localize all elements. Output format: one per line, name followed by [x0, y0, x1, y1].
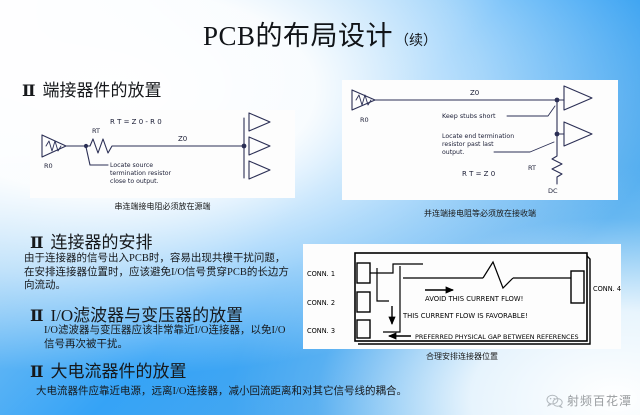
bullet-marker-icon: Ⅱ	[30, 235, 43, 252]
watermark-text: 射频百花潭	[567, 392, 632, 409]
note-line-3: close to output.	[110, 178, 158, 185]
label-conn-3: CONN. 3	[307, 327, 335, 335]
section-heading-terminator-placement: Ⅱ端接器件的放置	[22, 76, 161, 101]
label-z0: Z0	[470, 89, 479, 97]
wechat-icon	[546, 394, 563, 408]
section-heading-io-filter-transformer: ⅡI/O滤波器与变压器的放置	[30, 301, 243, 326]
figure-connector-layout: CONN. 1 CONN. 2 CONN. 3 CONN. 4 AVOID TH…	[303, 244, 621, 349]
page-title-main: PCB的布局设计	[203, 21, 393, 51]
section-heading-label: 连接器的安排	[50, 233, 152, 252]
section-heading-label: 端接器件的放置	[42, 81, 161, 100]
section-body-io-filter-transformer: I/O滤波器与变压器应该非常靠近I/O连接器，以免I/O信号再次被干扰。	[44, 324, 292, 351]
figure-caption-connector-layout: 合理安排连接器位置	[303, 351, 621, 362]
label-dc: DC	[548, 187, 558, 195]
note-keep-stubs-short: Keep stubs short	[442, 112, 496, 120]
figure-end-termination: R0 Z0 Keep stubs short Locate end termin…	[342, 80, 618, 200]
page-title: PCB的布局设计（续）	[0, 14, 640, 53]
label-conn-2: CONN. 2	[307, 299, 335, 307]
note-line-2: termination resistor	[110, 170, 172, 177]
bullet-marker-icon: Ⅱ	[30, 364, 43, 381]
section-heading-connector-arrangement: Ⅱ连接器的安排	[30, 228, 152, 253]
figure-caption-end-termination: 并连端接电阻等必须放在接收端	[342, 208, 618, 219]
connector-layout-schematic: CONN. 1 CONN. 2 CONN. 3 CONN. 4 AVOID TH…	[303, 244, 621, 349]
label-r0: R0	[360, 116, 369, 124]
section-body-high-current-devices: 大电流器件应靠近电源，远离I/O连接器，减小回流距离和对其它信号线的耦合。	[36, 385, 466, 399]
formula-rt: R T = Z 0 - R 0	[110, 118, 162, 126]
section-heading-high-current-devices: Ⅱ大电流器件的放置	[30, 357, 186, 382]
watermark: 射频百花潭	[546, 392, 632, 409]
section-heading-label: 大电流器件的放置	[50, 362, 186, 381]
node-dot	[555, 132, 560, 137]
label-avoid-current-flow: AVOID THIS CURRENT FLOW!	[425, 295, 523, 303]
label-conn-4: CONN. 4	[593, 285, 621, 293]
figure-caption-source-termination: 串连端接电阻必须放在源端	[30, 201, 295, 212]
node-dot	[242, 144, 247, 149]
node-dot	[84, 144, 88, 148]
formula-rt: R T = Z 0	[462, 170, 495, 178]
figure-source-termination: R T = Z 0 - R 0 RT R0 Z0 Locate source t…	[30, 110, 295, 198]
node-dot	[555, 98, 560, 103]
label-conn-1: CONN. 1	[307, 270, 335, 278]
slide-canvas: PCB的布局设计（续） Ⅱ端接器件的放置	[0, 0, 640, 415]
label-favorable-current-flow: THIS CURRENT FLOW IS FAVORABLE!	[402, 312, 528, 320]
label-rt: RT	[528, 164, 536, 172]
end-termination-schematic: R0 Z0 Keep stubs short Locate end termin…	[342, 80, 618, 200]
source-termination-schematic: R T = Z 0 - R 0 RT R0 Z0 Locate source t…	[30, 110, 295, 198]
label-rt: RT	[92, 127, 100, 135]
bullet-marker-icon: Ⅱ	[30, 308, 43, 325]
page-title-suffix: （续）	[395, 34, 437, 49]
note-line-3: output.	[442, 149, 464, 156]
section-heading-label: I/O滤波器与变压器的放置	[50, 306, 243, 325]
section-body-connector-arrangement: 由于连接器的信号出入PCB时，容易出现共模干扰问题，在安排连接器位置时，应该避免…	[24, 252, 290, 293]
note-line-2: resistor past last	[442, 141, 494, 148]
note-line-1: Locate end termination	[442, 133, 514, 140]
bullet-marker-icon: Ⅱ	[22, 83, 35, 100]
label-r0: R0	[44, 162, 53, 170]
note-line-1: Locate source	[110, 162, 153, 169]
label-preferred-gap: PREFERRED PHYSICAL GAP BETWEEN REFERENCE…	[415, 333, 579, 341]
label-z0: Z0	[178, 135, 187, 143]
